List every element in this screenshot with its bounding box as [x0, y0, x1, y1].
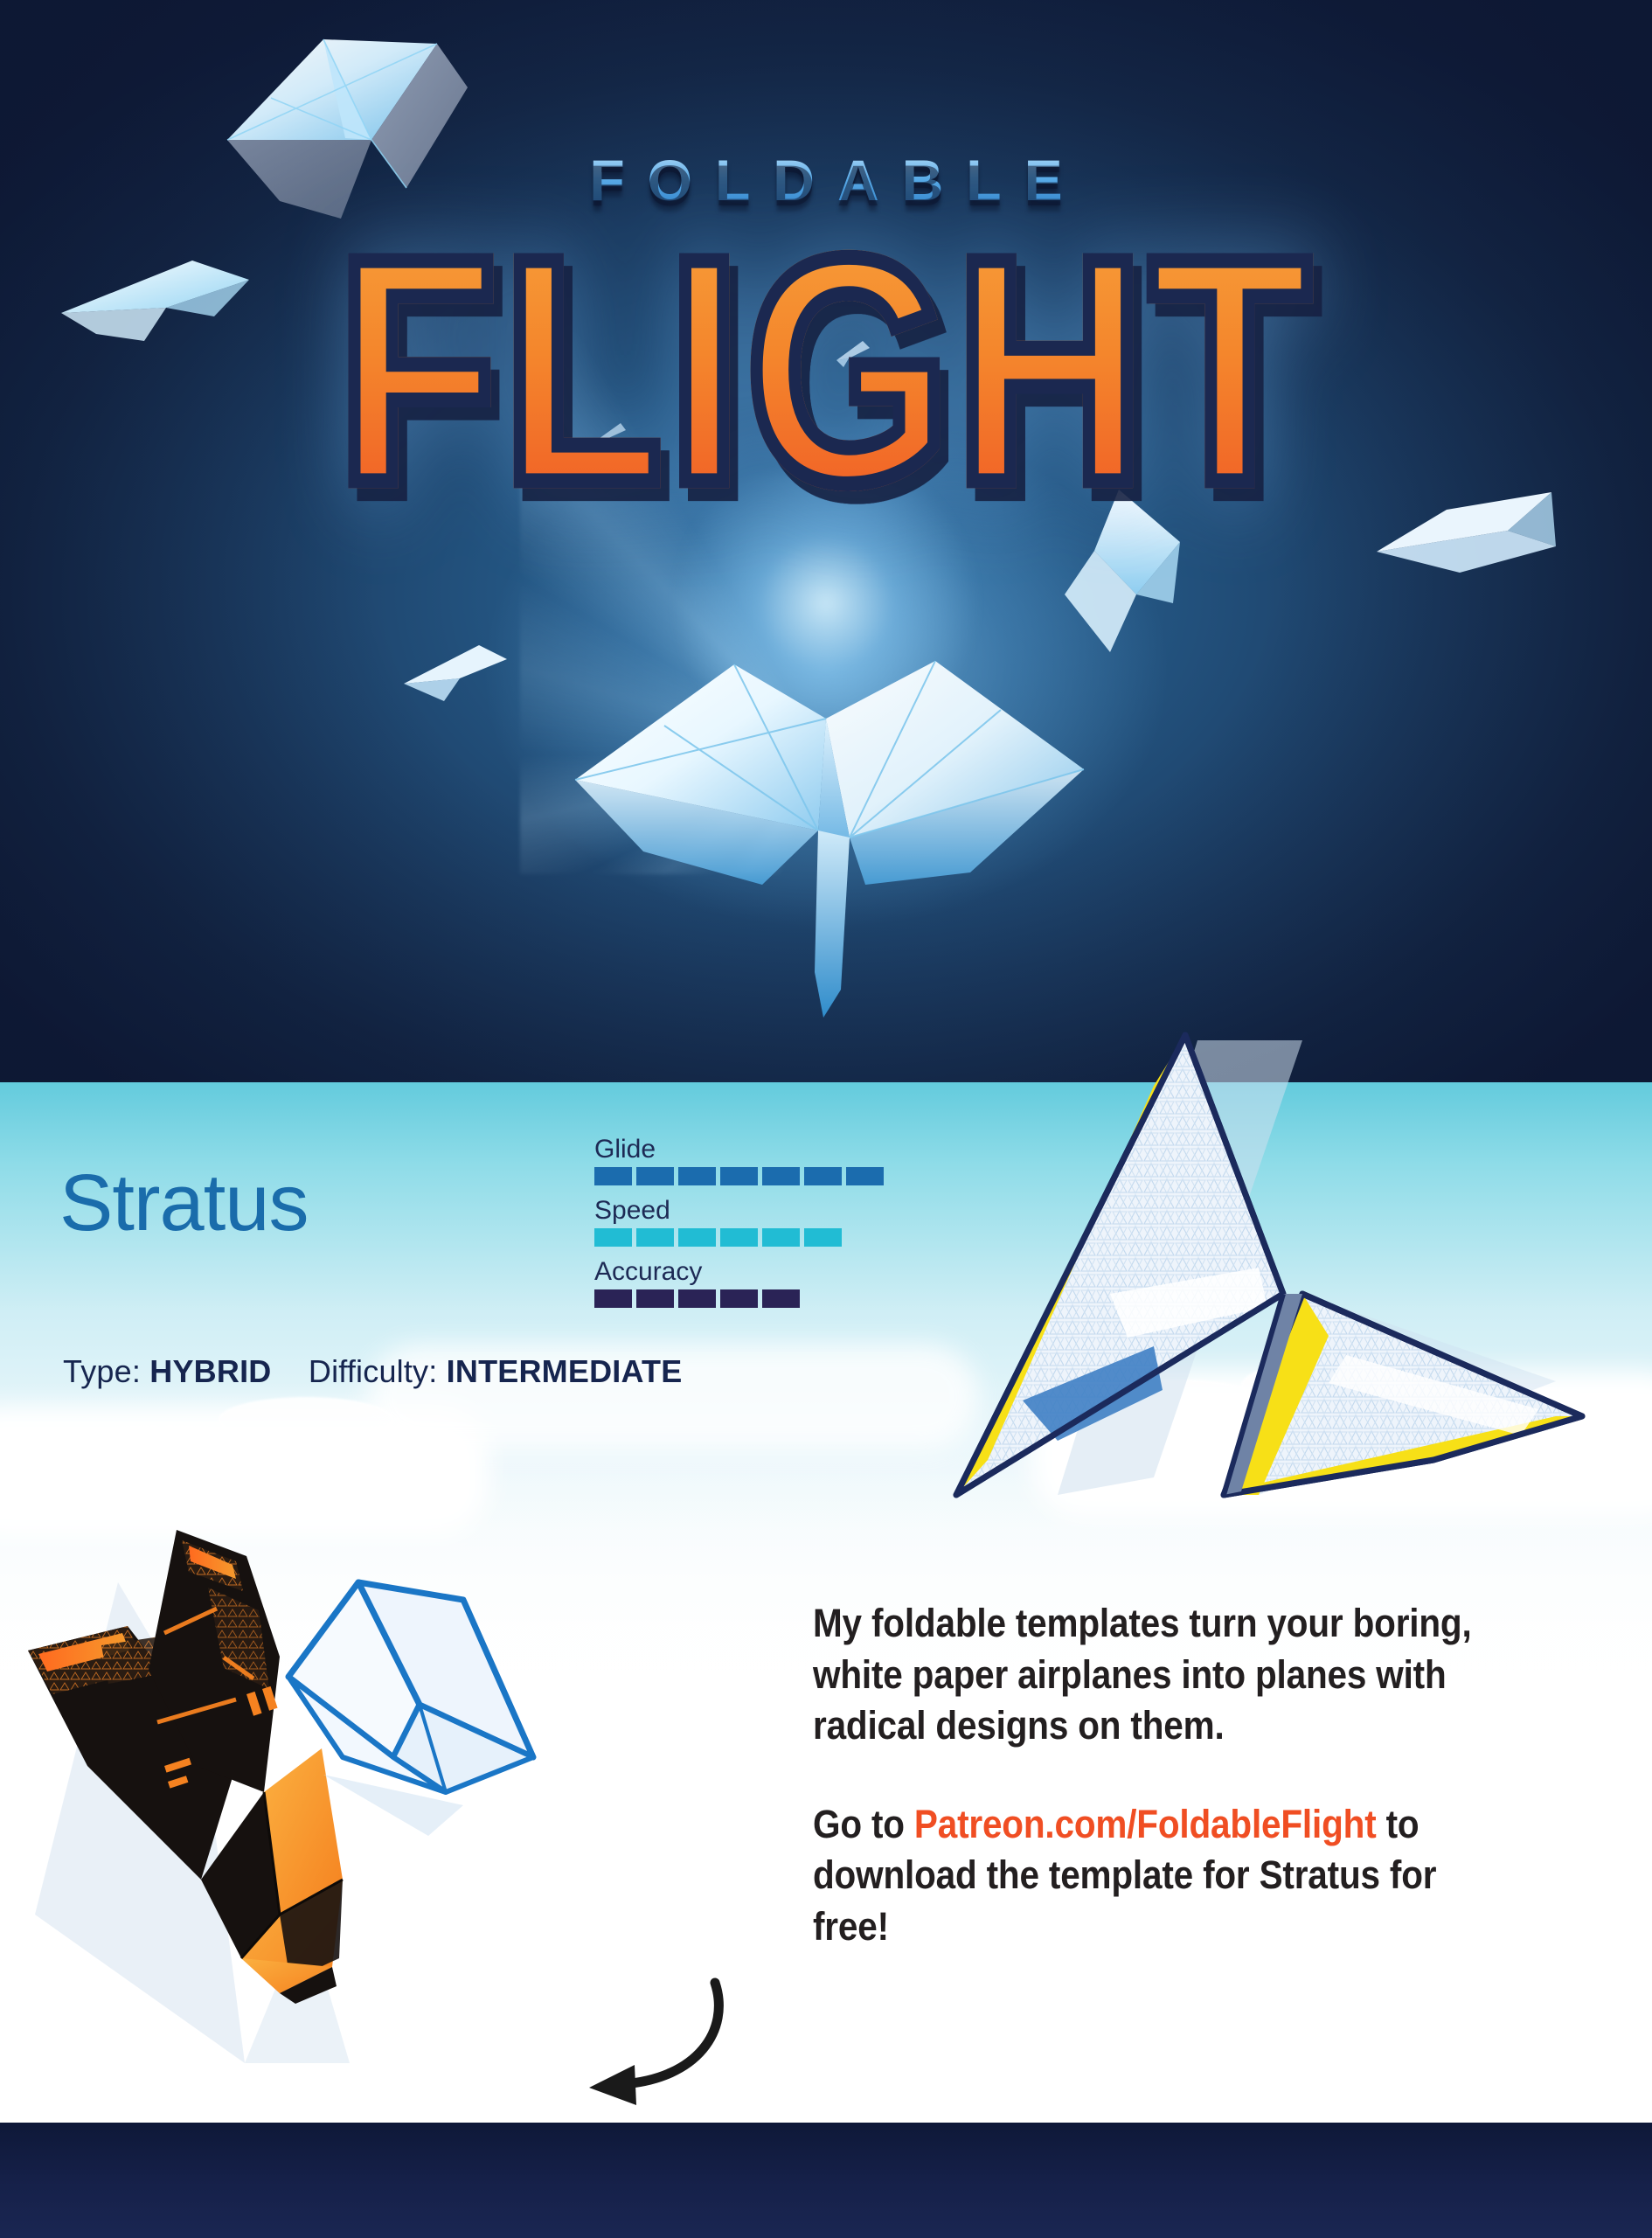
body-copy: My foldable templates turn your boring, …: [813, 1598, 1521, 1952]
plane-name: Stratus: [59, 1163, 308, 1243]
stat-pip: [720, 1167, 758, 1185]
stat-pips-accuracy: [594, 1289, 884, 1308]
cloud: [219, 1397, 393, 1442]
brand-flight-letter: L: [503, 210, 668, 530]
type-value: HYBRID: [149, 1353, 271, 1389]
stat-speed: Speed: [594, 1196, 884, 1247]
origami-plane-small-icon: [404, 638, 509, 708]
stat-pip: [594, 1167, 632, 1185]
plane-meta: Type: HYBRID Difficulty: INTERMEDIATE: [63, 1353, 682, 1390]
transform-arrow-icon: [524, 1967, 734, 2116]
brand-flight-letter: H: [955, 210, 1150, 530]
patreon-link[interactable]: Patreon.com/FoldableFlight: [914, 1802, 1377, 1846]
difficulty-value: INTERMEDIATE: [447, 1353, 683, 1389]
stat-pip: [720, 1228, 758, 1247]
stat-pip: [804, 1167, 842, 1185]
stat-pip: [762, 1167, 800, 1185]
copy-paragraph-2: Go to Patreon.com/FoldableFlight to down…: [813, 1799, 1521, 1953]
brand-flight-letter: F: [337, 210, 502, 530]
stratus-plane-illustration: [892, 1005, 1626, 1547]
brand-flight-letter: G: [746, 210, 954, 530]
brand-flight-letter: I: [668, 210, 746, 530]
poster: FOLDABLE FLIGHT: [0, 0, 1652, 2238]
stat-pip: [762, 1228, 800, 1247]
stat-pip: [594, 1228, 632, 1247]
stat-pip: [678, 1167, 716, 1185]
stat-label-speed: Speed: [594, 1196, 884, 1225]
stat-pip: [762, 1289, 800, 1308]
stat-label-glide: Glide: [594, 1135, 884, 1164]
stat-accuracy: Accuracy: [594, 1257, 884, 1308]
origami-plane-hero-icon: [559, 622, 1101, 1025]
hero-section: FOLDABLE FLIGHT: [0, 0, 1652, 1082]
stat-pip: [678, 1289, 716, 1308]
stat-pip: [636, 1289, 674, 1308]
stat-pip: [594, 1289, 632, 1308]
stat-pip: [636, 1167, 674, 1185]
copy-paragraph-1: My foldable templates turn your boring, …: [813, 1598, 1521, 1752]
stat-pip: [720, 1289, 758, 1308]
stat-pip: [678, 1228, 716, 1247]
stat-pips-glide: [594, 1167, 884, 1185]
stat-pip: [846, 1167, 884, 1185]
stat-glide: Glide: [594, 1135, 884, 1185]
stat-pip: [636, 1228, 674, 1247]
footer-bar: [0, 2123, 1652, 2238]
plain-plane-illustration: [262, 1574, 594, 1923]
brand-flight-letter: T: [1149, 210, 1315, 530]
cta-prefix: Go to: [813, 1802, 914, 1846]
type-label: Type:: [63, 1353, 141, 1389]
stat-label-accuracy: Accuracy: [594, 1257, 884, 1286]
brand-flight: FLIGHT: [0, 210, 1652, 530]
stat-pip: [804, 1228, 842, 1247]
difficulty-label: Difficulty:: [309, 1353, 438, 1389]
stat-pips-speed: [594, 1228, 884, 1247]
stats-panel: Glide Speed Accuracy: [594, 1135, 884, 1318]
